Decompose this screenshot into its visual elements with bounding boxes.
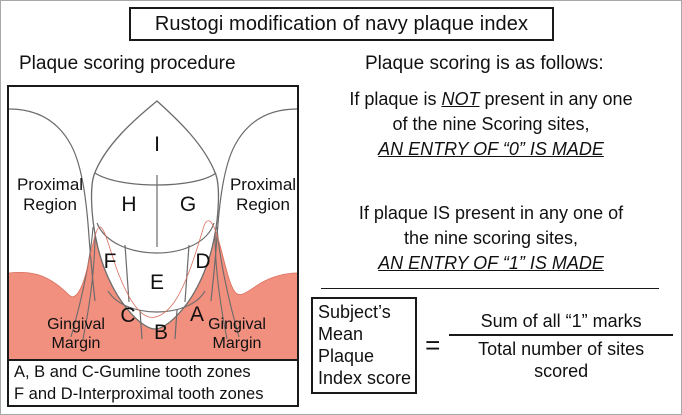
label-gingival-margin-right: Gingival Margin	[208, 315, 266, 353]
fraction-denominator-line1: Total number of sites	[447, 338, 675, 360]
proximal-left-line2: Region	[17, 195, 83, 215]
rule-absent-line2: of the nine Scoring sites,	[307, 112, 675, 137]
proximal-right-line2: Region	[230, 195, 296, 215]
rule-plaque-present: If plaque IS present in any one of the n…	[307, 201, 675, 276]
mean-plaque-index-formula: Subject’s Mean Plaque Index score = Sum …	[311, 297, 675, 394]
label-gingival-margin-left: Gingival Margin	[47, 315, 105, 353]
fraction-denominator-line2: scored	[447, 360, 675, 382]
rule-present-line1: If plaque IS present in any one of	[307, 201, 675, 226]
rule-present-entry-statement: AN ENTRY OF “1” IS MADE	[307, 251, 675, 276]
rule-absent-line1: If plaque is NOT present in any one	[307, 87, 675, 112]
equals-sign: =	[425, 330, 440, 361]
subject-line-4: Index score	[318, 367, 411, 389]
diagram-legend: A, B and C-Gumline tooth zones F and D-I…	[9, 359, 297, 405]
proximal-right-line1: Proximal	[230, 175, 296, 195]
subject-line-3: Plaque	[318, 345, 411, 367]
heading-plaque-scoring-is-as-follows: Plaque scoring is as follows:	[365, 53, 604, 75]
tooth-diagram-panel: I H G F E D C B A Proximal Region Proxim…	[7, 85, 299, 407]
gingival-right-line1: Gingival	[208, 315, 266, 334]
rule-plaque-absent: If plaque is NOT present in any one of t…	[307, 87, 675, 162]
scoring-rules-panel: If plaque is NOT present in any one of t…	[307, 85, 677, 407]
section-divider	[321, 288, 659, 289]
fraction-bar	[449, 334, 673, 336]
heading-plaque-scoring-procedure: Plaque scoring procedure	[19, 53, 236, 75]
rule-absent-line1-post: present in any one	[479, 89, 632, 109]
rule-absent-line1-pre: If plaque is	[349, 89, 441, 109]
label-proximal-region-left: Proximal Region	[17, 175, 83, 215]
subject-line-1: Subject’s	[318, 301, 411, 323]
formula-fraction: Sum of all “1” marks Total number of sit…	[447, 309, 675, 382]
gingival-left-line1: Gingival	[47, 315, 105, 334]
gingival-left-line2: Margin	[47, 334, 105, 353]
subject-score-box: Subject’s Mean Plaque Index score	[311, 297, 417, 394]
plaque-index-figure: Rustogi modification of navy plaque inde…	[0, 0, 682, 415]
fraction-numerator: Sum of all “1” marks	[447, 309, 675, 334]
figure-title: Rustogi modification of navy plaque inde…	[155, 13, 528, 36]
subject-line-2: Mean	[318, 323, 411, 345]
rule-absent-emph-not: NOT	[441, 89, 479, 109]
rule-present-line2: the nine scoring sites,	[307, 226, 675, 251]
proximal-left-line1: Proximal	[17, 175, 83, 195]
figure-title-box: Rustogi modification of navy plaque inde…	[129, 7, 554, 41]
label-proximal-region-right: Proximal Region	[230, 175, 296, 215]
gingival-right-line2: Margin	[208, 334, 266, 353]
legend-line-gumline: A, B and C-Gumline tooth zones	[9, 361, 297, 383]
legend-line-interproximal: F and D-Interproximal tooth zones	[9, 383, 297, 405]
rule-absent-entry-statement: AN ENTRY OF “0” IS MADE	[307, 137, 675, 162]
